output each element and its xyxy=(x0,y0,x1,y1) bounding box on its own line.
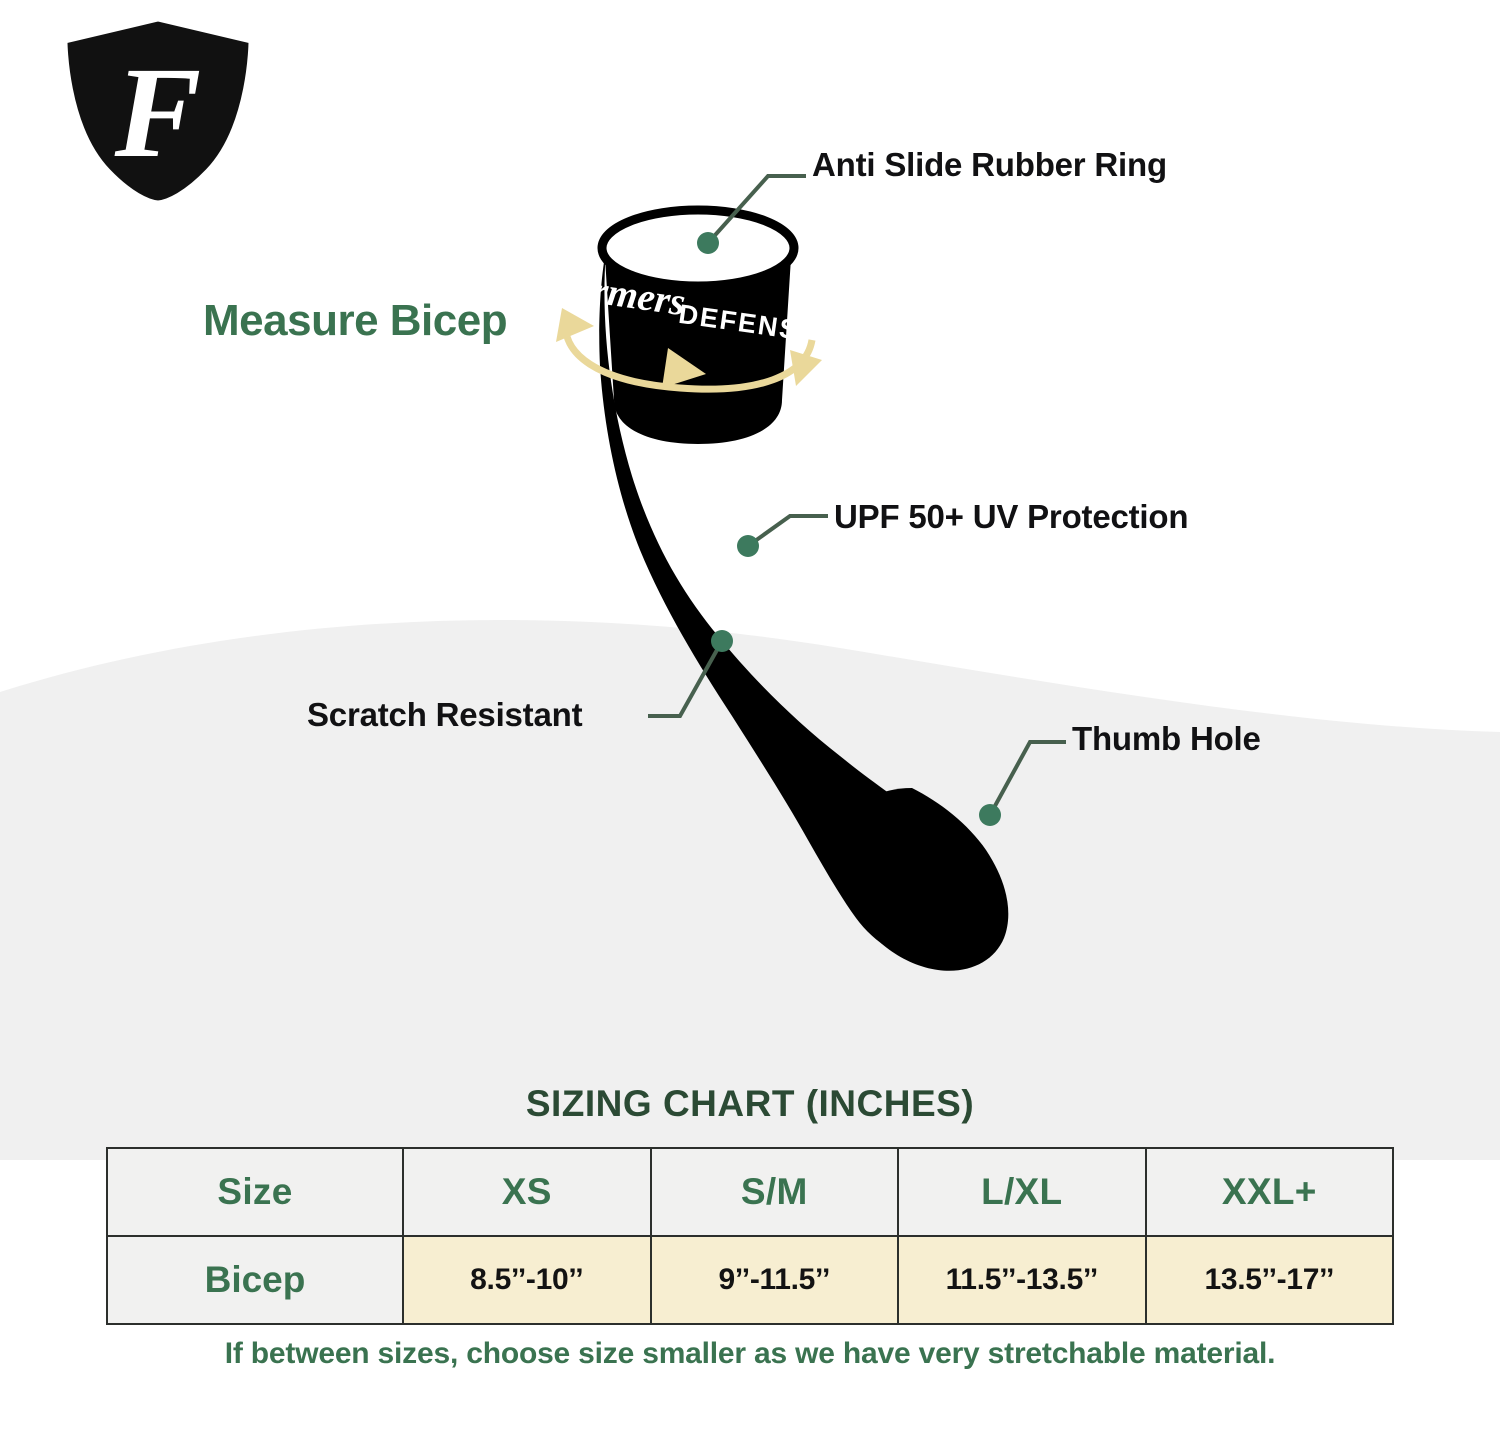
sizing-chart-title: SIZING CHART (INCHES) xyxy=(0,1083,1500,1125)
header-cell-lxl: L/XL xyxy=(898,1148,1146,1236)
cell-bicep-xxl: 13.5’’-17’’ xyxy=(1146,1236,1394,1324)
header-cell-xxl: XXL+ xyxy=(1146,1148,1394,1236)
sizing-chart-table: Size XS S/M L/XL XXL+ Bicep 8.5’’-10’’ 9… xyxy=(106,1147,1394,1325)
sizing-chart-note: If between sizes, choose size smaller as… xyxy=(0,1337,1500,1371)
callout-label-anti-slide-rubber-ring: Anti Slide Rubber Ring xyxy=(812,148,1167,181)
cell-bicep-xs: 8.5’’-10’’ xyxy=(403,1236,651,1324)
brand-logo-shield-icon: F xyxy=(58,16,258,206)
cell-bicep-lxl: 11.5’’-13.5’’ xyxy=(898,1236,1146,1324)
brand-logo-letter: F xyxy=(114,41,202,185)
header-cell-sm: S/M xyxy=(651,1148,899,1236)
table-row: Bicep 8.5’’-10’’ 9’’-11.5’’ 11.5’’-13.5’… xyxy=(107,1236,1393,1324)
table-header-row: Size XS S/M L/XL XXL+ xyxy=(107,1148,1393,1236)
header-cell-size: Size xyxy=(107,1148,403,1236)
header-cell-xs: XS xyxy=(403,1148,651,1236)
callout-label-scratch-resistant: Scratch Resistant xyxy=(307,698,582,731)
infographic-page: F Farmers DEFENSE xyxy=(0,0,1500,1445)
callout-label-thumb-hole: Thumb Hole xyxy=(1072,722,1261,755)
arm-sleeve-illustration: Farmers DEFENSE xyxy=(520,190,1120,980)
measure-bicep-label: Measure Bicep xyxy=(203,299,507,343)
row-header-bicep: Bicep xyxy=(107,1236,403,1324)
callout-label-upf-uv-protection: UPF 50+ UV Protection xyxy=(834,500,1188,533)
cell-bicep-sm: 9’’-11.5’’ xyxy=(651,1236,899,1324)
